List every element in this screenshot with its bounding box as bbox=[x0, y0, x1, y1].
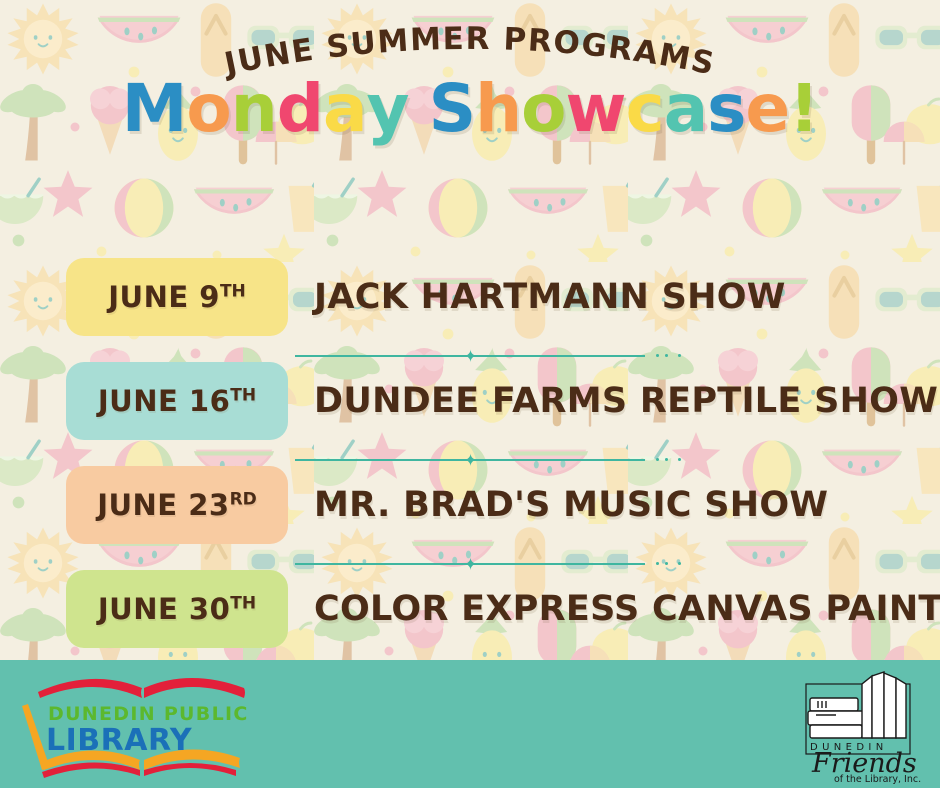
title-word-monday: Monday bbox=[122, 76, 409, 142]
title-letter: h bbox=[475, 76, 521, 142]
divider-dot bbox=[656, 458, 659, 461]
library-page-red-right bbox=[144, 763, 236, 776]
title-letter: y bbox=[367, 76, 409, 142]
divider-dot bbox=[678, 354, 681, 357]
date-ordinal-suffix: RD bbox=[230, 489, 257, 509]
library-book-arc-left bbox=[38, 679, 142, 698]
divider-dots bbox=[656, 458, 696, 462]
friends-logo-line3: of the Library, Inc. bbox=[834, 774, 921, 785]
page-title: MondayShowcase! bbox=[0, 76, 940, 142]
library-book-arc-right bbox=[144, 678, 245, 698]
schedule-list: JUNE 9THJACK HARTMANN SHOW✦JUNE 16THDUND… bbox=[0, 258, 940, 665]
divider-dots bbox=[656, 562, 696, 566]
date-pill: JUNE 23RD bbox=[66, 466, 288, 544]
schedule-row: JUNE 23RDMR. BRAD'S MUSIC SHOW bbox=[0, 466, 940, 544]
date-pill: JUNE 30TH bbox=[66, 570, 288, 648]
poster-footer: DUNEDIN PUBLIC LIBRARY D U N bbox=[0, 660, 940, 788]
title-letter: c bbox=[625, 76, 663, 142]
title-letter: a bbox=[664, 76, 708, 142]
title-letter: ! bbox=[789, 76, 818, 142]
date-label: JUNE 30TH bbox=[98, 592, 256, 626]
poster-canvas: JUNE SUMMER PROGRAMS MondayShowcase! JUN… bbox=[0, 0, 940, 788]
dunedin-public-library-logo: DUNEDIN PUBLIC LIBRARY bbox=[18, 670, 288, 785]
library-logo-line1: DUNEDIN PUBLIC bbox=[48, 703, 249, 725]
divider-dot bbox=[665, 458, 668, 461]
friends-of-the-library-logo: D U N E D I N Friends of the Library, In… bbox=[792, 668, 922, 786]
title-letter: w bbox=[565, 76, 625, 142]
title-letter: S bbox=[429, 76, 476, 142]
date-pill: JUNE 16TH bbox=[66, 362, 288, 440]
divider-dot bbox=[656, 354, 659, 357]
schedule-row: JUNE 9THJACK HARTMANN SHOW bbox=[0, 258, 940, 336]
date-ordinal-suffix: TH bbox=[220, 281, 246, 301]
date-pill: JUNE 9TH bbox=[66, 258, 288, 336]
friends-book-stack bbox=[808, 698, 864, 738]
title-letter: d bbox=[277, 76, 323, 142]
divider-dot bbox=[678, 562, 681, 565]
date-ordinal-suffix: TH bbox=[230, 385, 256, 405]
event-title: MR. BRAD'S MUSIC SHOW bbox=[314, 485, 828, 525]
schedule-row: JUNE 30THCOLOR EXPRESS CANVAS PAINTING bbox=[0, 570, 940, 648]
title-letter: n bbox=[231, 76, 277, 142]
date-label: JUNE 23RD bbox=[97, 488, 257, 522]
date-label: JUNE 9TH bbox=[108, 280, 246, 314]
schedule-row: JUNE 16THDUNDEE FARMS REPTILE SHOW bbox=[0, 362, 940, 440]
divider-dot bbox=[665, 562, 668, 565]
event-title: JACK HARTMANN SHOW bbox=[314, 277, 786, 317]
library-logo-line2: LIBRARY bbox=[46, 723, 193, 758]
poster-header: JUNE SUMMER PROGRAMS MondayShowcase! bbox=[0, 0, 940, 175]
title-letter: s bbox=[707, 76, 745, 142]
divider-dot bbox=[678, 458, 681, 461]
divider-dot bbox=[656, 562, 659, 565]
event-title: COLOR EXPRESS CANVAS PAINTING bbox=[314, 589, 940, 629]
date-ordinal-suffix: TH bbox=[230, 593, 256, 613]
divider-dot bbox=[665, 354, 668, 357]
event-title: DUNDEE FARMS REPTILE SHOW bbox=[314, 381, 938, 421]
friends-upright-books bbox=[862, 672, 906, 738]
date-label: JUNE 16TH bbox=[98, 384, 256, 418]
title-letter: M bbox=[122, 76, 187, 142]
title-word-showcase: Showcase! bbox=[429, 76, 819, 142]
title-letter: a bbox=[323, 76, 367, 142]
divider-dots bbox=[656, 354, 696, 358]
title-letter: o bbox=[521, 76, 565, 142]
title-letter: e bbox=[745, 76, 789, 142]
title-letter: o bbox=[186, 76, 230, 142]
